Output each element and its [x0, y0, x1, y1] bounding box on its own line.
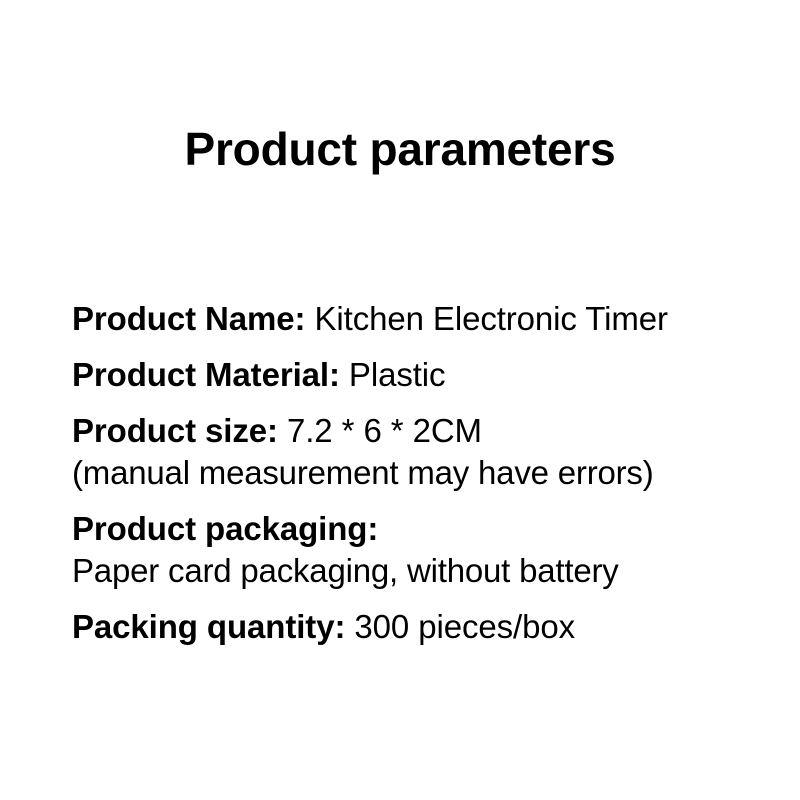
spec-line: Product size: 7.2 * 6 * 2CM [72, 410, 762, 452]
spec-label: Product packaging: [72, 510, 378, 547]
spec-entry-packing-quantity: Packing quantity: 300 pieces/box [72, 606, 762, 648]
spec-entry-product-size: Product size: 7.2 * 6 * 2CM (manual meas… [72, 410, 762, 494]
page-title: Product parameters [0, 126, 800, 172]
spec-note: Paper card packaging, without battery [72, 550, 762, 592]
spec-entry-product-packaging: Product packaging: Paper card packaging,… [72, 508, 762, 592]
spec-value: 7.2 * 6 * 2CM [287, 412, 482, 449]
spec-line: Product Material: Plastic [72, 354, 762, 396]
spec-entry-product-name: Product Name: Kitchen Electronic Timer [72, 298, 762, 340]
spec-line: Product Name: Kitchen Electronic Timer [72, 298, 762, 340]
spec-label: Product size: [72, 412, 287, 449]
spec-label: Packing quantity: [72, 608, 354, 645]
spec-label: Product Material: [72, 356, 349, 393]
spec-entry-product-material: Product Material: Plastic [72, 354, 762, 396]
spec-value: Kitchen Electronic Timer [314, 300, 667, 337]
spec-note: (manual measurement may have errors) [72, 452, 762, 494]
spec-line: Packing quantity: 300 pieces/box [72, 606, 762, 648]
product-parameters-page: Product parameters Product Name: Kitchen… [0, 0, 800, 800]
spec-list: Product Name: Kitchen Electronic Timer P… [72, 298, 762, 648]
spec-line: Product packaging: [72, 508, 762, 550]
spec-label: Product Name: [72, 300, 314, 337]
spec-value: 300 pieces/box [354, 608, 575, 645]
spec-value: Plastic [349, 356, 446, 393]
